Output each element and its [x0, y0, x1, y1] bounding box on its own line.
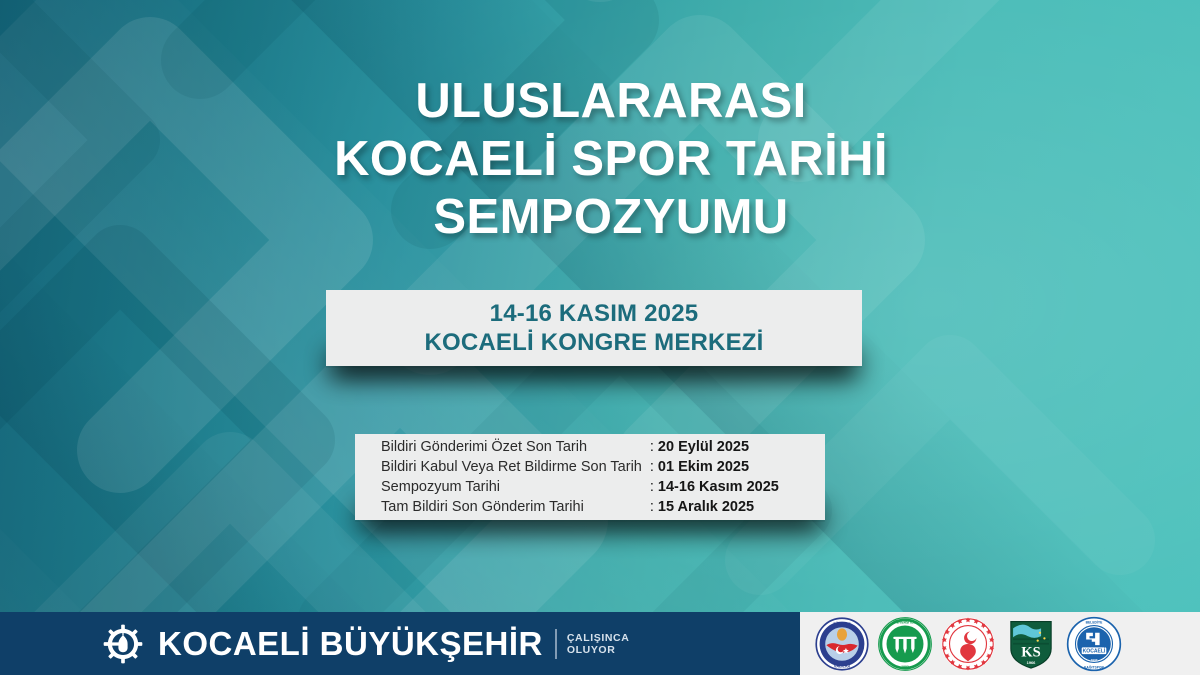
- venue-place: KOCAELİ KONGRE MERKEZİ: [424, 328, 763, 357]
- venue-date: 14-16 KASIM 2025: [490, 299, 699, 328]
- buyuksehir-belediye-kagitspor-logo: KOCAELİ 1937 BELEDİYE KAĞITSPOR: [1066, 616, 1122, 672]
- svg-text:1937: 1937: [1091, 657, 1098, 661]
- svg-text:1966: 1966: [1027, 660, 1037, 665]
- municipality-brand: KOCAELİ BÜYÜKŞEHİR ÇALIŞINCA OLUYOR: [0, 612, 800, 675]
- brand-slogan: ÇALIŞINCA OLUYOR: [567, 632, 630, 656]
- deadline-value: : 15 Aralık 2025: [650, 497, 779, 517]
- deadline-label: Bildiri Gönderimi Özet Son Tarih: [381, 437, 650, 457]
- deadline-value-text: 14-16 Kasım 2025: [658, 479, 779, 495]
- brand-name: KOCAELİ BÜYÜKŞEHİR: [158, 627, 543, 660]
- title-line-3: SEMPOZYUMU: [22, 188, 1200, 246]
- kocaeli-gear-shield-icon: [100, 621, 146, 667]
- title-line-1: ULUSLARARASI: [22, 72, 1200, 130]
- svg-text:BELEDİYE: BELEDİYE: [1086, 620, 1104, 624]
- deadline-value: : 14-16 Kasım 2025: [650, 477, 779, 497]
- deadline-value: : 01 Ekim 2025: [650, 457, 779, 477]
- brand-divider: [555, 629, 557, 659]
- table-row: Bildiri Gönderimi Özet Son Tarih : 20 Ey…: [381, 437, 779, 457]
- deadline-label: Sempozyum Tarihi: [381, 477, 650, 497]
- deadline-value-text: 15 Aralık 2025: [658, 499, 754, 515]
- table-row: Tam Bildiri Son Gönderim Tarihi : 15 Ara…: [381, 497, 779, 517]
- deadline-value: : 20 Eylül 2025: [650, 437, 779, 457]
- kocaelispor-logo: KS 1966: [1003, 616, 1059, 672]
- kocaeli-valiligi-logo: TÜRKİYE VALİLİĞİ: [814, 616, 870, 672]
- svg-text:KAĞITSPOR: KAĞITSPOR: [1084, 664, 1105, 669]
- deadline-value-text: 20 Eylül 2025: [658, 439, 749, 455]
- table-row: Sempozyum Tarihi : 14-16 Kasım 2025: [381, 477, 779, 497]
- svg-text:ÜNİVERSİTESİ: ÜNİVERSİTESİ: [893, 619, 916, 624]
- svg-text:TÜRKİYE: TÜRKİYE: [833, 620, 851, 625]
- svg-text:KOCAELİ: KOCAELİ: [1083, 647, 1106, 654]
- footer-bar: KOCAELİ BÜYÜKŞEHİR ÇALIŞINCA OLUYOR TÜRK…: [0, 612, 1200, 675]
- svg-text:KS: KS: [1021, 644, 1040, 660]
- svg-text:VALİLİĞİ: VALİLİĞİ: [834, 663, 850, 668]
- venue-box: 14-16 KASIM 2025 KOCAELİ KONGRE MERKEZİ: [326, 290, 862, 366]
- svg-text:1992: 1992: [901, 665, 909, 669]
- partner-logos: TÜRKİYE VALİLİĞİ ÜNİVERSİTESİ 1992: [800, 612, 1200, 675]
- deadline-label: Tam Bildiri Son Gönderim Tarihi: [381, 497, 650, 517]
- title-line-2: KOCAELİ SPOR TARİHİ: [22, 130, 1200, 188]
- table-row: Bildiri Kabul Veya Ret Bildirme Son Tari…: [381, 457, 779, 477]
- deadlines-box: Bildiri Gönderimi Özet Son Tarih : 20 Ey…: [355, 434, 825, 520]
- slogan-line-1: ÇALIŞINCA: [567, 632, 630, 644]
- slogan-line-2: OLUYOR: [567, 644, 630, 656]
- deadlines-table: Bildiri Gönderimi Özet Son Tarih : 20 Ey…: [381, 437, 779, 517]
- page-title: ULUSLARARASI KOCAELİ SPOR TARİHİ SEMPOZY…: [0, 72, 1200, 246]
- kocaeli-universitesi-logo: ÜNİVERSİTESİ 1992: [877, 616, 933, 672]
- deadline-value-text: 01 Ekim 2025: [658, 459, 749, 475]
- poster-canvas: ULUSLARARASI KOCAELİ SPOR TARİHİ SEMPOZY…: [0, 0, 1200, 675]
- deadline-label: Bildiri Kabul Veya Ret Bildirme Son Tari…: [381, 457, 650, 477]
- genclik-ve-spor-bakanligi-logo: [940, 616, 996, 672]
